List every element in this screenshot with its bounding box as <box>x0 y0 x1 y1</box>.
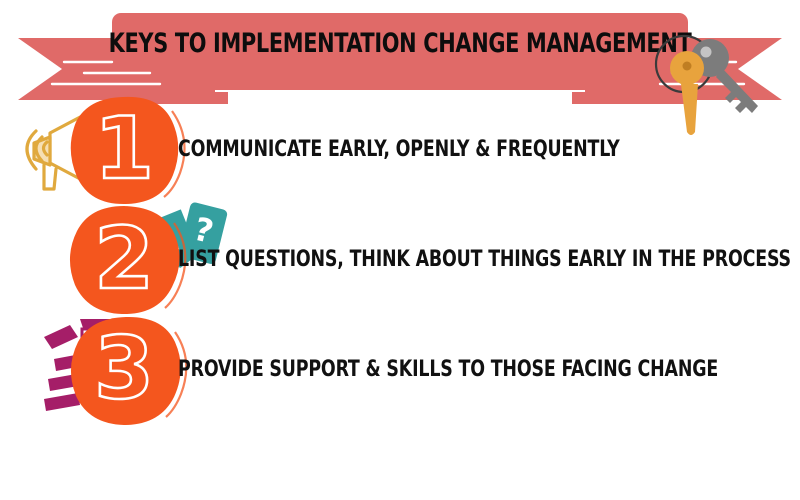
key-gold <box>670 51 704 135</box>
page-title: KEYS TO IMPLEMENTATION CHANGE MANAGEMENT <box>151 22 650 64</box>
step-number: 2 <box>68 205 176 313</box>
step-label: LIST QUESTIONS, THINK ABOUT THINGS EARLY… <box>178 205 791 313</box>
step-number: 3 <box>68 315 176 423</box>
infographic-canvas: KEYS TO IMPLEMENTATION CHANGE MANAGEMENT <box>0 0 800 500</box>
step-label: PROVIDE SUPPORT & SKILLS TO THOSE FACING… <box>178 315 718 423</box>
keys-icon <box>640 28 790 138</box>
banner: KEYS TO IMPLEMENTATION CHANGE MANAGEMENT <box>0 0 800 110</box>
step-badge: 2 <box>68 205 176 313</box>
step-badge: 3 <box>68 315 176 423</box>
